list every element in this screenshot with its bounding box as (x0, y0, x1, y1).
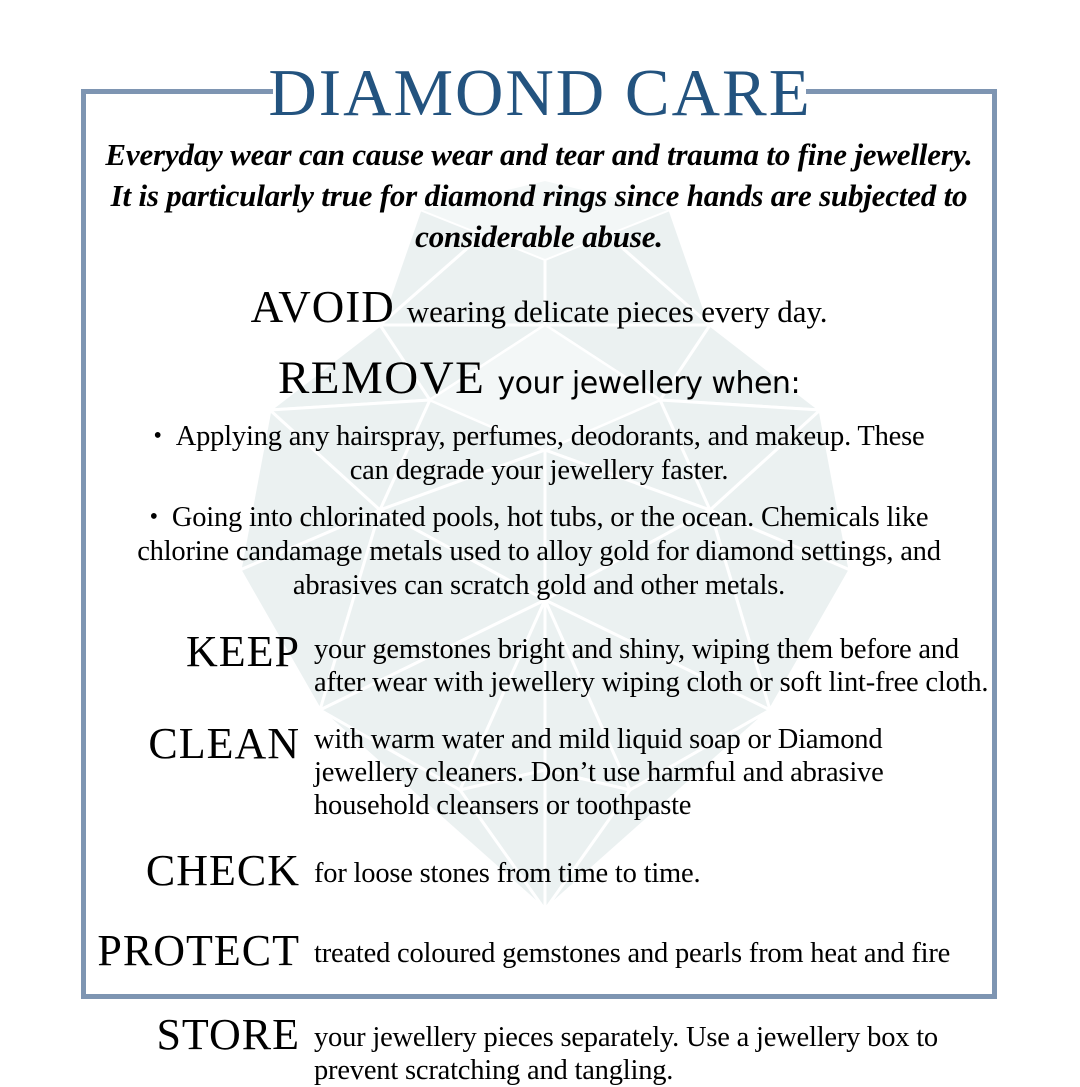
avoid-line: AVOIDwearing delicate pieces every day. (86, 281, 992, 333)
step-keyword-protect: PROTECT (86, 928, 314, 974)
bullet-marker-icon: • (154, 423, 176, 449)
remove-keyword: REMOVE (278, 352, 485, 404)
step-text-check: for loose stones from time to time. (314, 848, 992, 890)
remove-line: REMOVEyour jewellery when: (86, 351, 992, 405)
step-row-keep: KEEP your gemstones bright and shiny, wi… (86, 629, 992, 699)
step-keyword-store: STORE (86, 1012, 314, 1058)
remove-bullet-list: •Applying any hairspray, perfumes, deodo… (86, 419, 992, 603)
list-item: •Going into chlorinated pools, hot tubs,… (114, 500, 964, 603)
list-item-text: Applying any hairspray, perfumes, deodor… (176, 421, 925, 486)
content-column: Everyday wear can cause wear and tear an… (86, 134, 992, 1087)
bullet-marker-icon: • (150, 504, 172, 530)
list-item: •Applying any hairspray, perfumes, deodo… (144, 419, 934, 488)
page-title: DIAMOND CARE (0, 57, 1080, 129)
diamond-care-infographic: DIAMOND CARE Everyday wear can cause wea… (0, 0, 1080, 1080)
remove-text: your jewellery when: (497, 366, 800, 401)
frame-border-right (992, 89, 997, 999)
intro-paragraph: Everyday wear can cause wear and tear an… (100, 134, 978, 257)
step-row-clean: CLEAN with warm water and mild liquid so… (86, 721, 992, 822)
list-item-text: Going into chlorinated pools, hot tubs, … (137, 502, 941, 601)
step-keyword-clean: CLEAN (86, 721, 314, 767)
step-keyword-check: CHECK (86, 848, 314, 894)
step-row-store: STORE your jewellery pieces separately. … (86, 1012, 992, 1087)
avoid-keyword: AVOID (251, 282, 395, 332)
step-row-check: CHECK for loose stones from time to time… (86, 848, 992, 894)
step-text-keep: your gemstones bright and shiny, wiping … (314, 629, 992, 699)
step-row-protect: PROTECT treated coloured gemstones and p… (86, 928, 992, 974)
avoid-text: wearing delicate pieces every day. (407, 294, 828, 329)
step-keyword-keep: KEEP (86, 629, 314, 675)
step-text-protect: treated coloured gemstones and pearls fr… (314, 928, 992, 970)
step-text-clean: with warm water and mild liquid soap or … (314, 721, 992, 822)
step-text-store: your jewellery pieces separately. Use a … (314, 1012, 992, 1087)
